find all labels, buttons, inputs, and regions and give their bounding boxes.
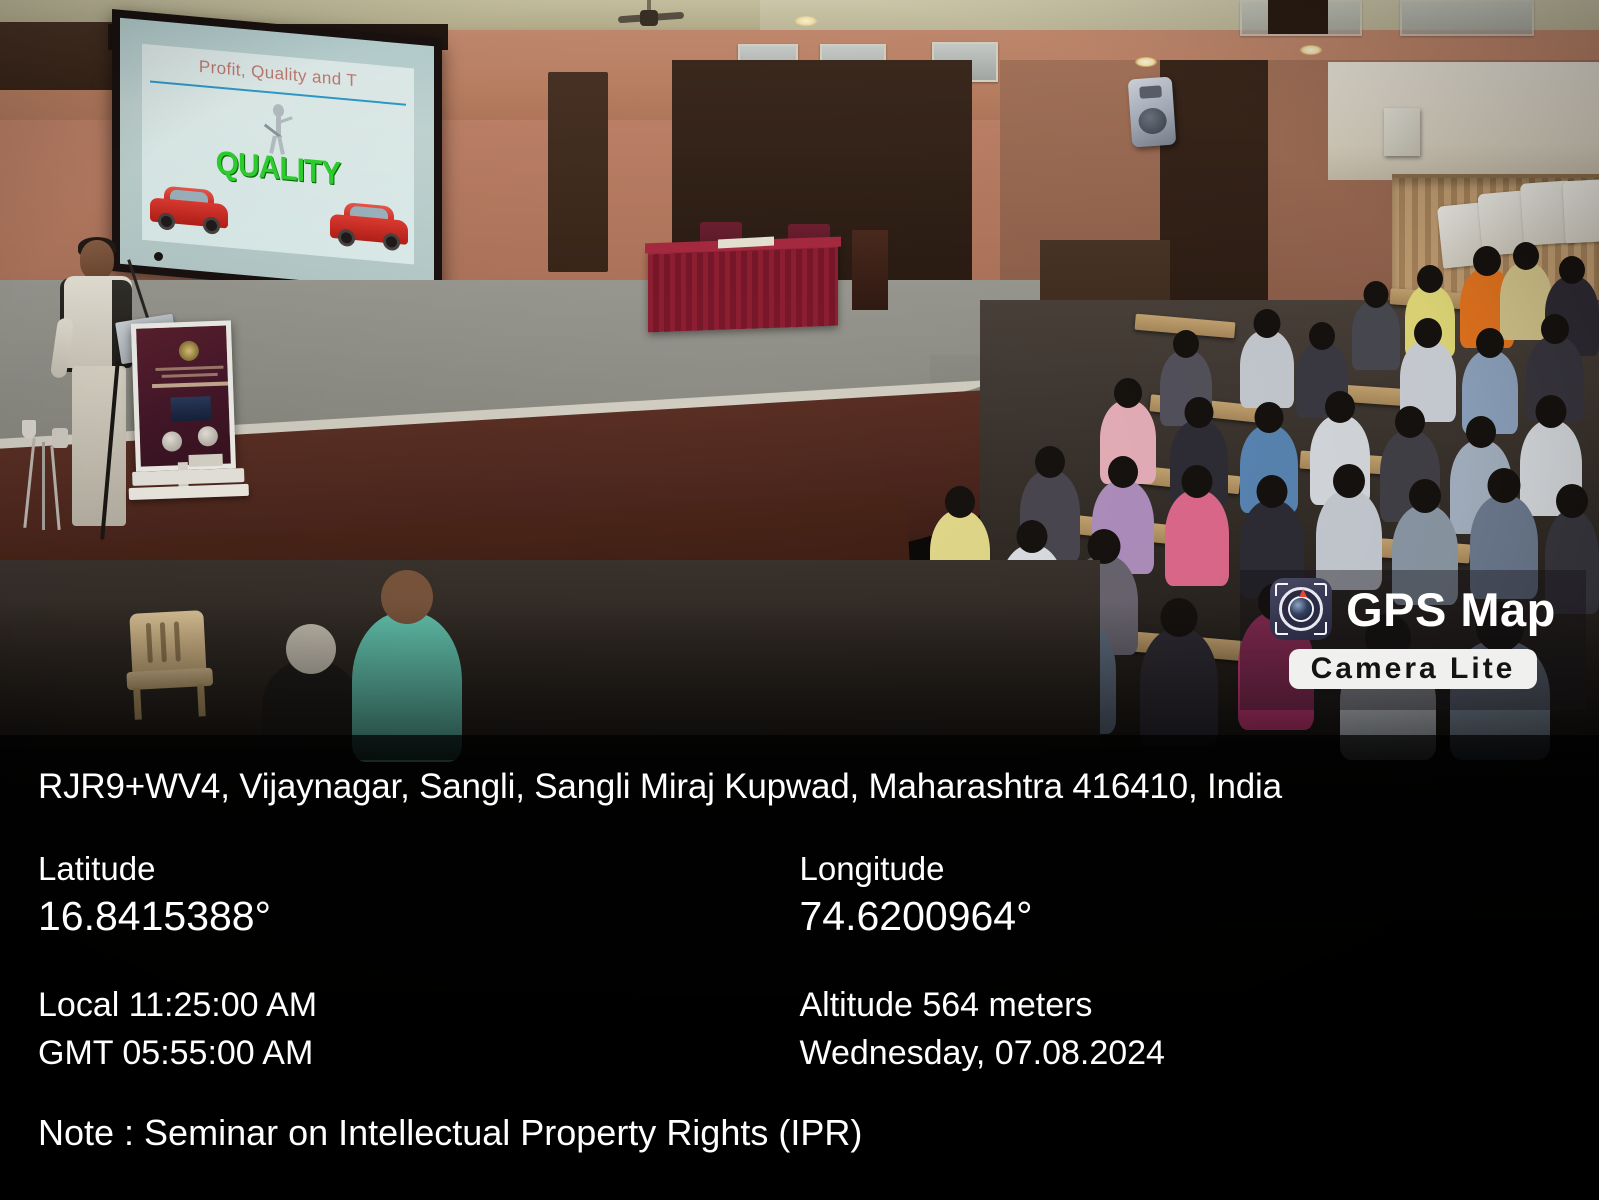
note-line: Note : Seminar on Intellectual Property … xyxy=(38,1115,1561,1151)
screenshot-root: Profit, Quality and T QUALITY xyxy=(0,0,1599,1200)
gmt-time: GMT 05:55:00 AM xyxy=(38,1029,800,1077)
gps-map-camera-watermark: GPS Map Camera Lite xyxy=(1240,570,1586,710)
wall-speaker-icon xyxy=(1384,108,1420,156)
audience-member xyxy=(1165,490,1229,586)
microphone-icon xyxy=(154,252,163,261)
watermark-app-subtitle: Camera Lite xyxy=(1289,649,1538,689)
plastic-chair xyxy=(119,610,216,720)
coordinates-grid: Latitude 16.8415388° Longitude 74.620096… xyxy=(38,850,1561,941)
altitude-value: Altitude 564 meters xyxy=(800,981,1562,1029)
time-grid: Local 11:25:00 AM GMT 05:55:00 AM Altitu… xyxy=(38,981,1561,1078)
slide-title: Profit, Quality and T xyxy=(142,52,414,97)
projection-screen: Profit, Quality and T QUALITY xyxy=(120,18,434,293)
audience-member xyxy=(1240,330,1294,408)
audience-member xyxy=(1352,300,1400,370)
ceiling-light xyxy=(1135,57,1157,67)
car-graphic xyxy=(150,184,228,237)
wall-panel xyxy=(1268,0,1328,34)
wall-speaker-icon xyxy=(1128,77,1177,148)
time-column: Local 11:25:00 AM GMT 05:55:00 AM xyxy=(38,981,800,1078)
latitude-column: Latitude 16.8415388° xyxy=(38,850,800,941)
geotag-info-overlay: RJR9+WV4, Vijaynagar, Sangli, Sangli Mir… xyxy=(0,735,1599,1200)
longitude-column: Longitude 74.6200964° xyxy=(800,850,1562,941)
head-table xyxy=(648,242,838,333)
wall-panel xyxy=(548,72,608,272)
side-podium xyxy=(852,230,888,310)
acoustic-panel xyxy=(1328,62,1599,180)
date-value: Wednesday, 07.08.2024 xyxy=(800,1029,1562,1077)
address-line: RJR9+WV4, Vijaynagar, Sangli, Sangli Mir… xyxy=(38,735,1561,804)
stick-figure-icon xyxy=(265,103,291,155)
gps-camera-app-icon xyxy=(1270,578,1332,640)
ceiling-light xyxy=(795,16,817,26)
ceiling-light xyxy=(1300,45,1322,55)
latitude-value: 16.8415388° xyxy=(38,891,800,941)
presentation-slide: Profit, Quality and T QUALITY xyxy=(142,44,414,265)
latitude-label: Latitude xyxy=(38,850,800,889)
longitude-value: 74.6200964° xyxy=(800,891,1562,941)
longitude-label: Longitude xyxy=(800,850,1562,889)
institution-emblem-icon xyxy=(179,341,200,362)
podium xyxy=(127,320,245,504)
audience-member xyxy=(1140,628,1218,746)
ventilation-grille xyxy=(1400,0,1534,36)
ceiling-fan-icon xyxy=(622,0,678,30)
watermark-app-name: GPS Map xyxy=(1346,586,1556,633)
car-graphic xyxy=(330,201,408,254)
altitude-date-column: Altitude 564 meters Wednesday, 07.08.202… xyxy=(800,981,1562,1078)
local-time: Local 11:25:00 AM xyxy=(38,981,800,1029)
tripod-stand xyxy=(8,420,88,530)
